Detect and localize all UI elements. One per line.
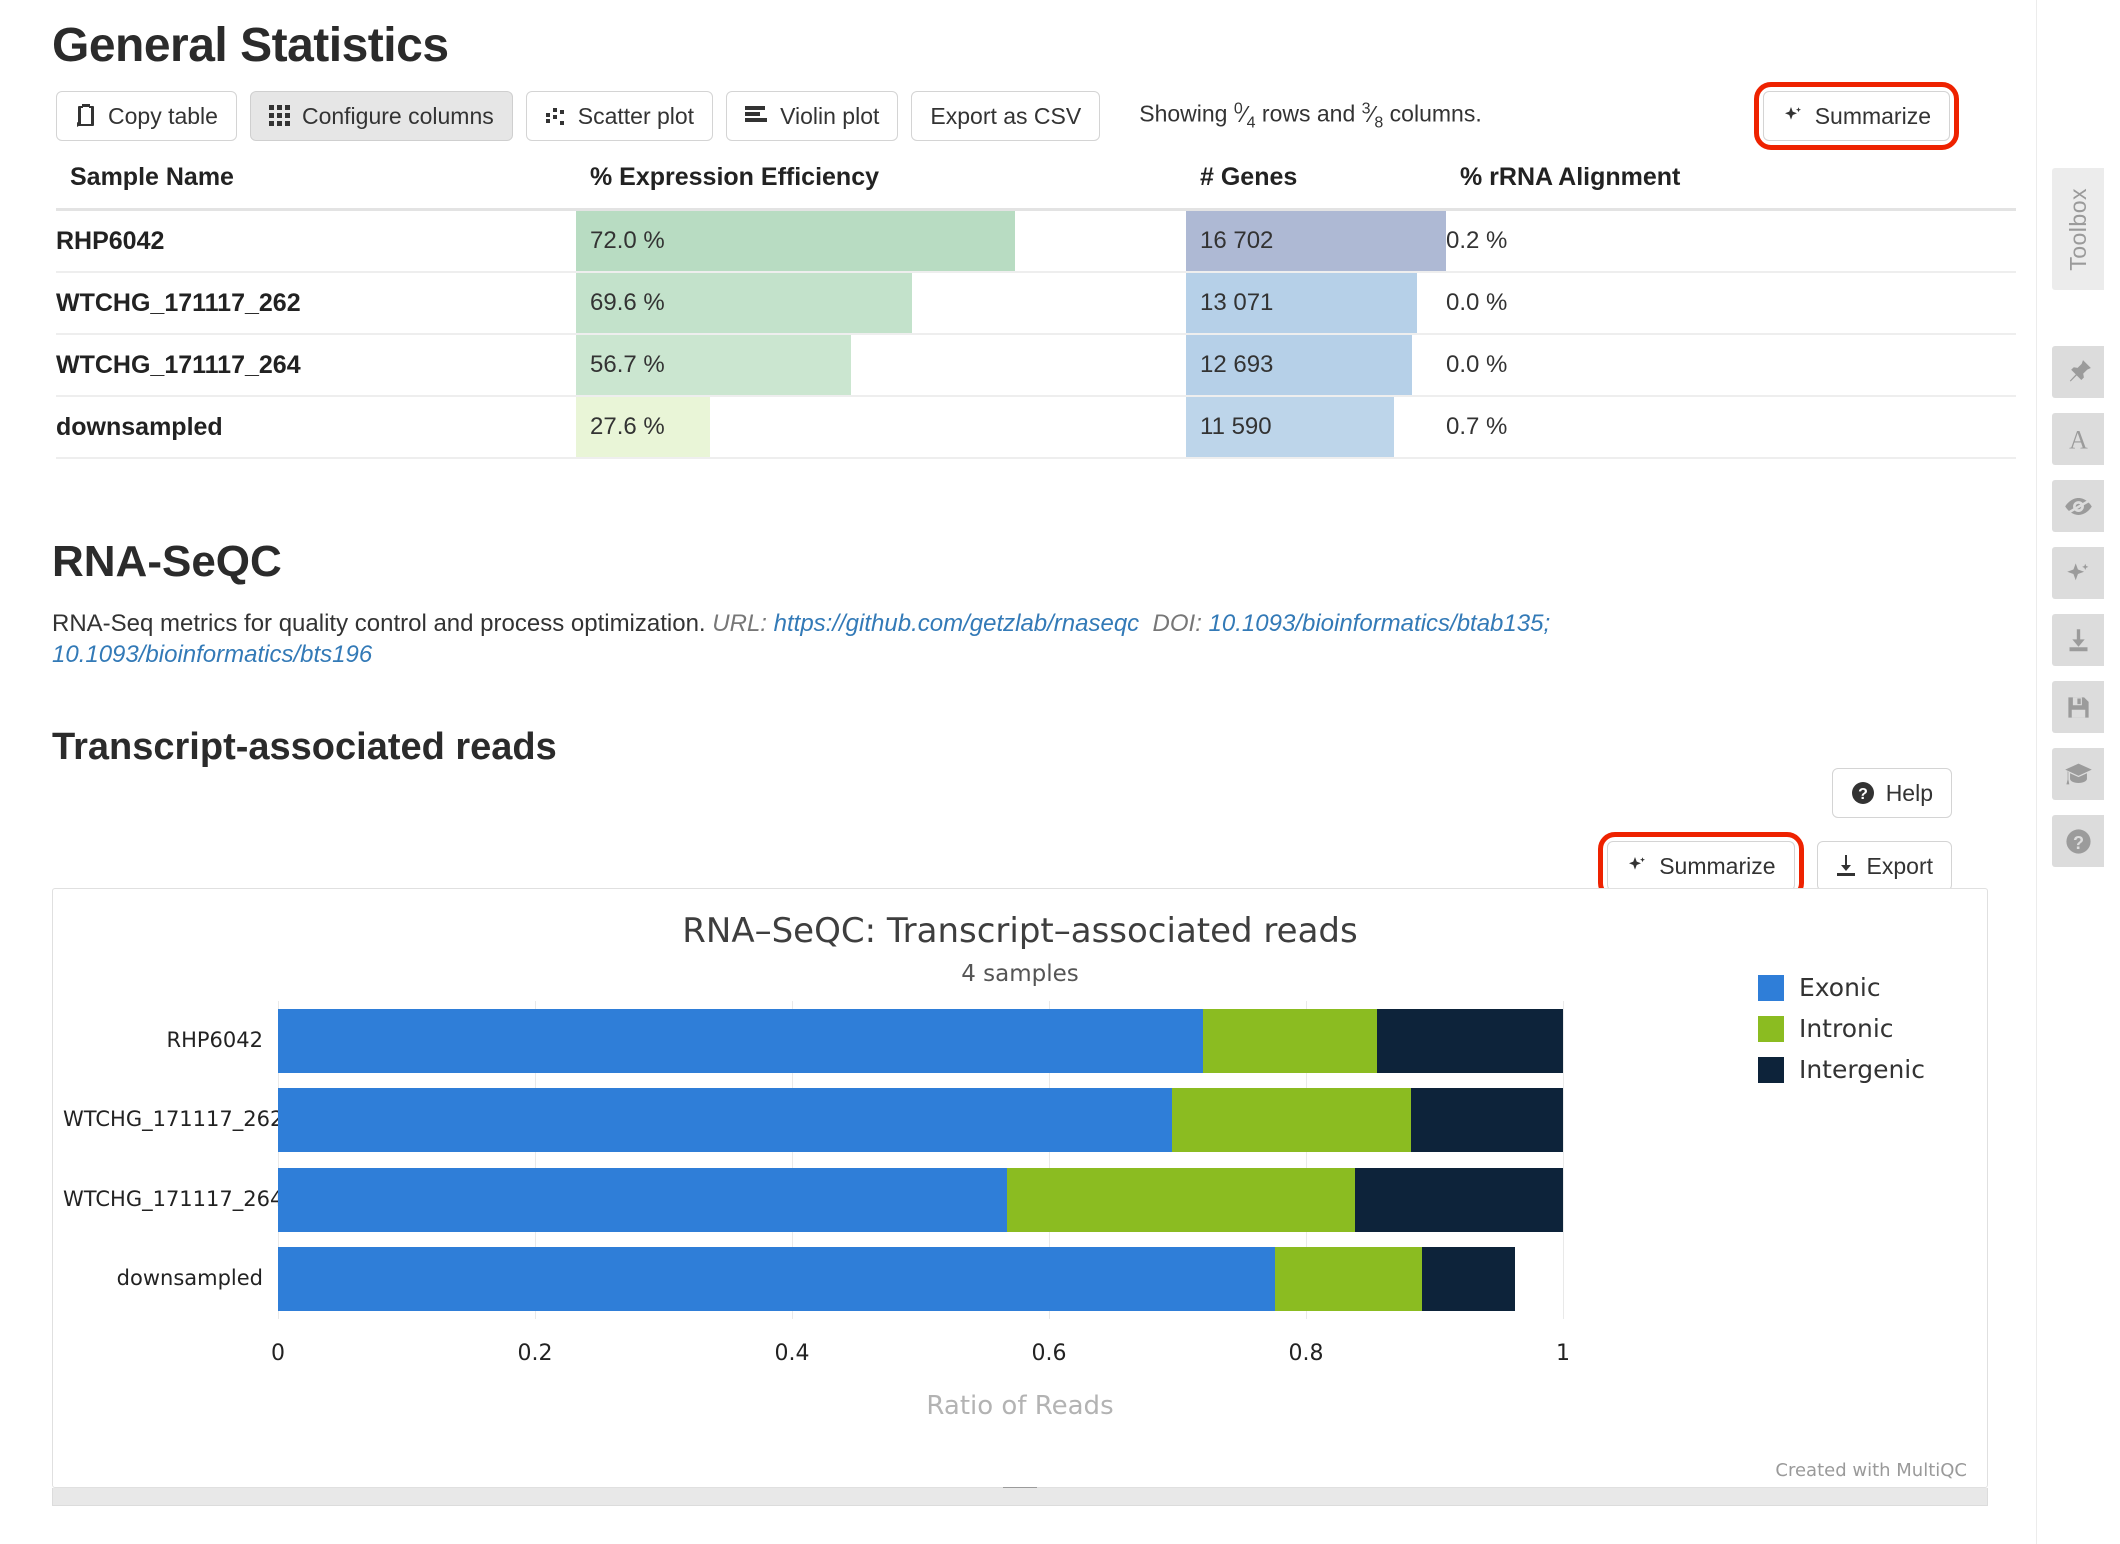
bar-cell: 11 590	[1186, 397, 1446, 457]
export-csv-button[interactable]: Export as CSV	[911, 91, 1100, 141]
chart-bar-segment[interactable]	[1203, 1009, 1376, 1073]
bar-cell: 72.0 %	[576, 211, 1186, 271]
bar-cell: 16 702	[1186, 211, 1446, 271]
plot-summarize-highlight-ring: Summarize	[1607, 841, 1794, 891]
chart-bar-segment[interactable]	[1172, 1088, 1411, 1152]
cell-rrna-alignment: 0.0 %	[1446, 272, 2016, 334]
chart-x-tick: 1	[1513, 1341, 1613, 1366]
chart-category-label: downsampled	[63, 1266, 263, 1290]
bar-value-label: 11 590	[1186, 397, 1446, 457]
bar-value-label: 27.6 %	[576, 397, 1186, 457]
table-row: downsampled 27.6 % 11 590 0.7 %	[56, 396, 2016, 458]
font-icon: A	[2065, 426, 2092, 453]
sparkle-icon	[2065, 560, 2092, 587]
bar-cell: 56.7 %	[576, 335, 1186, 395]
chart-x-tick: 0.4	[742, 1341, 842, 1366]
columns-fraction: 3⁄8	[1362, 101, 1384, 127]
module-description-text: RNA-Seq metrics for quality control and …	[52, 610, 706, 637]
url-label: URL:	[712, 610, 767, 637]
toolbox-label-text: Toolbox	[2065, 188, 2092, 271]
toolbox-label[interactable]: Toolbox	[2052, 168, 2104, 290]
chart-bar-segment[interactable]	[1377, 1009, 1563, 1073]
cell-expression-efficiency: 69.6 %	[576, 272, 1186, 334]
chart-bar-segment[interactable]	[278, 1009, 1203, 1073]
chart-bar-segment[interactable]	[1007, 1168, 1355, 1232]
scatter-plot-label: Scatter plot	[578, 103, 694, 130]
module-title: RNA-SeQC	[52, 537, 2036, 587]
section-help-row: ? Help	[1832, 768, 1952, 818]
export-csv-label: Export as CSV	[930, 103, 1081, 130]
bar-cell: 13 071	[1186, 273, 1446, 333]
legend-label: Intronic	[1799, 1014, 1894, 1043]
save-icon	[2065, 694, 2092, 721]
bar-value-label: 12 693	[1186, 335, 1446, 395]
toolbox-download-button[interactable]	[2052, 614, 2104, 666]
toolbox-hide-button[interactable]	[2052, 480, 2104, 532]
cell-expression-efficiency: 72.0 %	[576, 210, 1186, 273]
plot-card: RNA–SeQC: Transcript–associated reads 4 …	[52, 888, 1988, 1488]
chart-x-tick: 0.6	[999, 1341, 1099, 1366]
help-label: Help	[1886, 780, 1933, 807]
table-row: WTCHG_171117_262 69.6 % 13 071 0.0 %	[56, 272, 2016, 334]
bar-cell: 27.6 %	[576, 397, 1186, 457]
summarize-highlight-ring: Summarize	[1763, 91, 1950, 141]
chart-bar-segment[interactable]	[278, 1088, 1172, 1152]
chart-bar[interactable]	[278, 1247, 1563, 1311]
download-icon	[2065, 627, 2092, 654]
chart-bar[interactable]	[278, 1088, 1563, 1152]
general-statistics-table: Sample Name % Expression Efficiency # Ge…	[56, 163, 2016, 459]
sparkle-icon	[1626, 855, 1648, 877]
cell-expression-efficiency: 27.6 %	[576, 396, 1186, 458]
chart-category-label: WTCHG_171117_262	[63, 1107, 263, 1131]
legend-item[interactable]: Intronic	[1758, 1014, 1925, 1043]
configure-columns-label: Configure columns	[302, 103, 494, 130]
chart-gridline	[1563, 1001, 1564, 1319]
section-action-row: Summarize Export	[1607, 841, 1952, 891]
cell-rrna-alignment: 0.2 %	[1446, 210, 2016, 273]
chart-bar-segment[interactable]	[1355, 1168, 1563, 1232]
chart-bar[interactable]	[278, 1009, 1563, 1073]
cell-rrna-alignment: 0.0 %	[1446, 334, 2016, 396]
cell-sample-name: WTCHG_171117_262	[56, 272, 576, 334]
legend-swatch-intergenic	[1758, 1057, 1784, 1083]
chart-legend: Exonic Intronic Intergenic	[1758, 973, 1925, 1096]
table-body: RHP6042 72.0 % 16 702 0.2 % WTCHG_171117	[56, 210, 2016, 459]
cell-genes: 16 702	[1186, 210, 1446, 273]
scatter-plot-button[interactable]: Scatter plot	[526, 91, 713, 141]
pin-icon	[2065, 359, 2092, 386]
page-title: General Statistics	[52, 18, 2036, 73]
toolbox-summarize-button[interactable]	[2052, 547, 2104, 599]
summarize-table-button[interactable]: Summarize	[1763, 91, 1950, 141]
bar-value-label: 16 702	[1186, 211, 1446, 271]
module-doi-link-2[interactable]: 10.1093/bioinformatics/bts196	[52, 641, 372, 668]
export-label: Export	[1867, 853, 1933, 880]
multiqc-credit: Created with MultiQC	[1775, 1460, 1967, 1481]
bar-value-label: 69.6 %	[576, 273, 1186, 333]
legend-label: Exonic	[1799, 973, 1881, 1002]
table-header-row: Sample Name % Expression Efficiency # Ge…	[56, 163, 2016, 210]
copy-table-label: Copy table	[108, 103, 218, 130]
grid-icon	[269, 105, 291, 127]
legend-label: Intergenic	[1799, 1055, 1925, 1084]
x-axis-title: Ratio of Reads	[53, 1391, 1987, 1421]
cell-genes: 11 590	[1186, 396, 1446, 458]
column-header-expression-efficiency[interactable]: % Expression Efficiency	[576, 163, 1186, 210]
doi-label: DOI:	[1153, 610, 1202, 637]
chart-x-tick: 0.8	[1256, 1341, 1356, 1366]
toolbox-tour-button[interactable]	[2052, 748, 2104, 800]
scatter-plot-icon	[545, 105, 567, 127]
summarize-table-label: Summarize	[1815, 103, 1931, 130]
chart-x-tick: 0.2	[485, 1341, 585, 1366]
configure-columns-button[interactable]: Configure columns	[250, 91, 513, 141]
module-description: RNA-Seq metrics for quality control and …	[52, 609, 1752, 670]
chart-category-label: WTCHG_171117_264	[63, 1187, 263, 1211]
clipboard-icon	[75, 104, 97, 128]
legend-item[interactable]: Intergenic	[1758, 1055, 1925, 1084]
chart-x-tick: 0	[228, 1341, 328, 1366]
cell-rrna-alignment: 0.7 %	[1446, 396, 2016, 458]
cell-genes: 12 693	[1186, 334, 1446, 396]
section-title: Transcript-associated reads	[52, 726, 2036, 769]
table-row: WTCHG_171117_264 56.7 % 12 693 0.0 %	[56, 334, 2016, 396]
general-statistics-toolbar: Copy table Configure columns	[56, 91, 2036, 141]
eye-slash-icon	[2064, 492, 2093, 521]
question-circle-icon: ?	[1851, 781, 1875, 805]
showing-counts: Showing 0⁄4 rows and 3⁄8 columns.	[1139, 100, 1481, 132]
bars-icon	[745, 106, 769, 126]
export-button[interactable]: Export	[1817, 841, 1952, 891]
summarize-plot-label: Summarize	[1659, 853, 1775, 880]
cell-expression-efficiency: 56.7 %	[576, 334, 1186, 396]
page-content: General Statistics Copy table	[0, 0, 2036, 1544]
table-header: Sample Name % Expression Efficiency # Ge…	[56, 163, 2016, 210]
chart-bar-segment[interactable]	[278, 1247, 1275, 1311]
download-icon	[1836, 855, 1856, 877]
chart-bar-segment[interactable]	[1422, 1247, 1516, 1311]
column-header-genes[interactable]: # Genes	[1186, 163, 1446, 210]
graduation-cap-icon	[2064, 760, 2093, 789]
module-doi-link-1[interactable]: 10.1093/bioinformatics/btab135;	[1209, 610, 1551, 637]
cell-genes: 13 071	[1186, 272, 1446, 334]
cell-sample-name: downsampled	[56, 396, 576, 458]
toolbox-pin-button[interactable]	[2052, 346, 2104, 398]
chart-bar[interactable]	[278, 1168, 1563, 1232]
bar-value-label: 56.7 %	[576, 335, 1186, 395]
legend-swatch-exonic	[1758, 975, 1784, 1001]
svg-text:?: ?	[2072, 832, 2083, 852]
summarize-plot-button[interactable]: Summarize	[1607, 841, 1794, 891]
plot-card-footer	[52, 1488, 1988, 1506]
svg-text:?: ?	[1858, 786, 1868, 803]
column-header-rrna-alignment[interactable]: % rRNA Alignment	[1446, 163, 2016, 210]
rows-fraction: 0⁄4	[1234, 101, 1256, 127]
copy-table-button[interactable]: Copy table	[56, 91, 237, 141]
question-circle-icon: ?	[2064, 827, 2093, 856]
sparkle-icon	[1782, 105, 1804, 127]
chart-bar-segment[interactable]	[278, 1168, 1007, 1232]
chart-category-label: RHP6042	[63, 1028, 263, 1052]
toolbox-help-button[interactable]: ?	[2052, 815, 2104, 867]
violin-plot-button[interactable]: Violin plot	[726, 91, 898, 141]
legend-item[interactable]: Exonic	[1758, 973, 1925, 1002]
bar-cell: 69.6 %	[576, 273, 1186, 333]
svg-text:A: A	[2069, 426, 2088, 453]
toolbox-font-button[interactable]: A	[2052, 413, 2104, 465]
table-row: RHP6042 72.0 % 16 702 0.2 %	[56, 210, 2016, 273]
cell-sample-name: RHP6042	[56, 210, 576, 273]
help-button[interactable]: ? Help	[1832, 768, 1952, 818]
legend-swatch-intronic	[1758, 1016, 1784, 1042]
toolbox-save-button[interactable]	[2052, 681, 2104, 733]
violin-plot-label: Violin plot	[780, 103, 879, 130]
bar-value-label: 72.0 %	[576, 211, 1186, 271]
chart-bar-segment[interactable]	[1275, 1247, 1421, 1311]
column-header-sample-name[interactable]: Sample Name	[56, 163, 576, 210]
toolbox-rail: Toolbox A	[2036, 0, 2120, 1544]
module-url-link[interactable]: https://github.com/getzlab/rnaseqc	[774, 610, 1140, 637]
cell-sample-name: WTCHG_171117_264	[56, 334, 576, 396]
chart-bar-segment[interactable]	[1411, 1088, 1563, 1152]
bar-value-label: 13 071	[1186, 273, 1446, 333]
bar-cell: 12 693	[1186, 335, 1446, 395]
